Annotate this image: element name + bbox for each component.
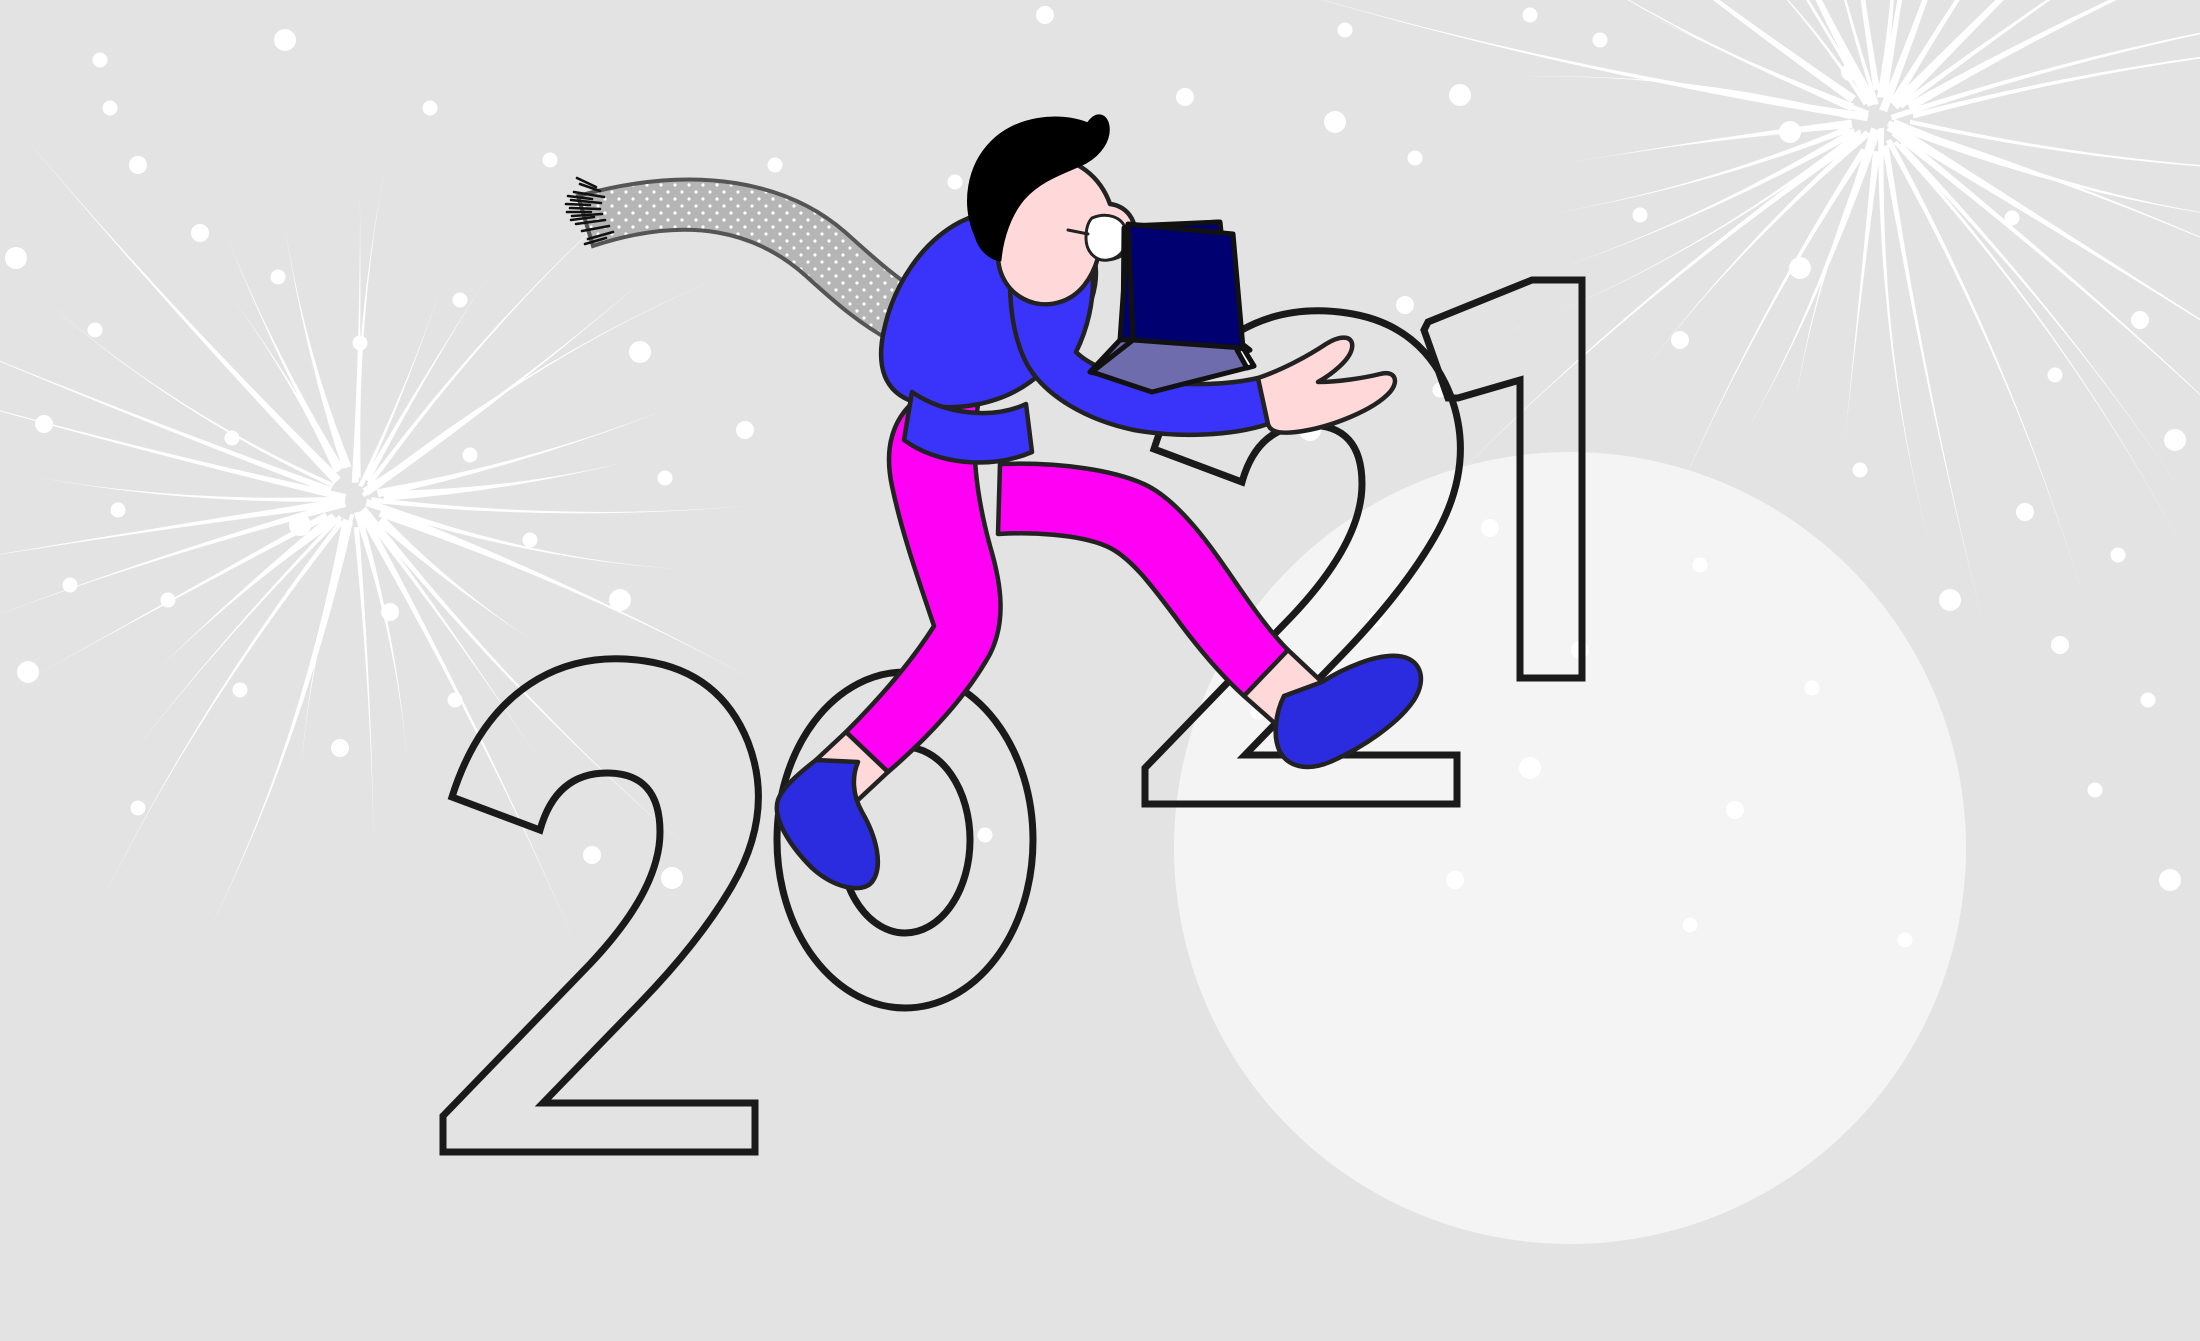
- confetti-dot: [274, 29, 296, 51]
- confetti-dot: [1779, 121, 1801, 143]
- confetti-dot: [2164, 429, 2186, 451]
- scene-svg: [0, 0, 2200, 1341]
- confetti-dot: [191, 224, 209, 242]
- confetti-dot: [1693, 558, 1708, 573]
- confetti-dot: [331, 739, 349, 757]
- illustration-canvas: [0, 0, 2200, 1341]
- confetti-dot: [103, 101, 118, 116]
- confetti-dot: [35, 415, 53, 433]
- confetti-dot: [111, 503, 126, 518]
- confetti-dot: [2016, 503, 2034, 521]
- confetti-dot: [583, 846, 601, 864]
- confetti-dot: [2048, 368, 2063, 383]
- confetti-dot: [609, 589, 631, 611]
- confetti-dot: [2159, 869, 2181, 891]
- confetti-dot: [381, 603, 399, 621]
- confetti-dot: [948, 175, 963, 190]
- big-circle: [1174, 452, 1966, 1244]
- confetti-dot: [17, 661, 39, 683]
- confetti-dot: [629, 341, 651, 363]
- confetti-dot: [1481, 519, 1499, 537]
- confetti-dot: [448, 693, 463, 708]
- confetti-dot: [1805, 681, 1820, 696]
- confetti-dot: [233, 683, 248, 698]
- confetti-dot: [523, 533, 538, 548]
- confetti-dot: [543, 153, 558, 168]
- confetti-dot: [978, 828, 993, 843]
- confetti-dot: [2051, 636, 2069, 654]
- confetti-dot: [1446, 871, 1464, 889]
- confetti-dot: [1726, 801, 1744, 819]
- confetti-dot: [2088, 783, 2103, 798]
- confetti-dot: [353, 336, 368, 351]
- confetti-dot: [1176, 88, 1194, 106]
- confetti-dot: [63, 578, 78, 593]
- confetti-dot: [131, 801, 146, 816]
- confetti-dot: [2111, 548, 2126, 563]
- confetti-dot: [1853, 463, 1868, 478]
- confetti-dot: [2131, 311, 2149, 329]
- confetti-dot: [1396, 296, 1414, 314]
- confetti-dot: [1683, 918, 1698, 933]
- confetti-dot: [225, 431, 240, 446]
- confetti-dot: [271, 270, 286, 285]
- confetti-dot: [1633, 208, 1648, 223]
- confetti-dot: [88, 323, 103, 338]
- confetti-dot: [1408, 151, 1423, 166]
- confetti-dot: [661, 867, 683, 889]
- confetti-dot: [161, 593, 176, 608]
- confetti-dot: [1939, 589, 1961, 611]
- confetti-dot: [1519, 757, 1541, 779]
- confetti-dot: [1593, 33, 1608, 48]
- confetti-dot: [768, 158, 783, 173]
- confetti-dot: [2141, 693, 2156, 708]
- confetti-dot: [1449, 84, 1471, 106]
- confetti-dot: [658, 471, 673, 486]
- confetti-dot: [93, 53, 108, 68]
- laptop-lid: [1128, 224, 1243, 348]
- confetti-dot: [1789, 257, 1811, 279]
- confetti-dot: [453, 293, 468, 308]
- confetti-dot: [1523, 8, 1538, 23]
- confetti-dot: [1324, 111, 1346, 133]
- confetti-dot: [1671, 331, 1689, 349]
- confetti-dot: [463, 448, 478, 463]
- confetti-dot: [289, 514, 311, 536]
- confetti-dot: [1338, 23, 1353, 38]
- confetti-dot: [1841, 63, 1859, 81]
- confetti-dot: [423, 101, 438, 116]
- confetti-dot: [129, 156, 147, 174]
- confetti-dot: [736, 421, 754, 439]
- confetti-dot: [1036, 6, 1054, 24]
- confetti-dot: [1898, 933, 1913, 948]
- confetti-dot: [5, 247, 27, 269]
- confetti-dot: [2005, 211, 2020, 226]
